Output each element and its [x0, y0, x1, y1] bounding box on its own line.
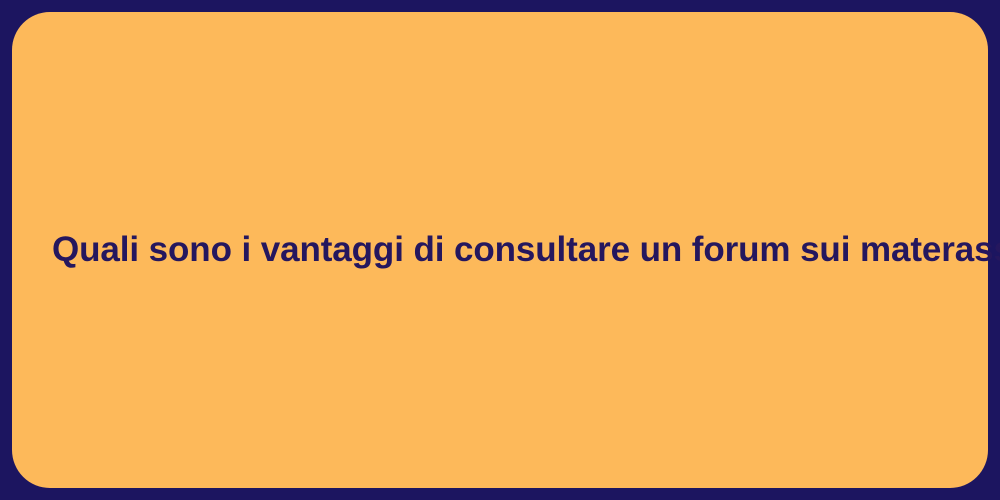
question-card-canvas: Quali sono i vantaggi di consultare un f… — [0, 0, 1000, 500]
question-headline: Quali sono i vantaggi di consultare un f… — [52, 228, 948, 272]
question-card-panel: Quali sono i vantaggi di consultare un f… — [12, 12, 988, 488]
outer-navy-frame: Quali sono i vantaggi di consultare un f… — [0, 0, 1000, 500]
